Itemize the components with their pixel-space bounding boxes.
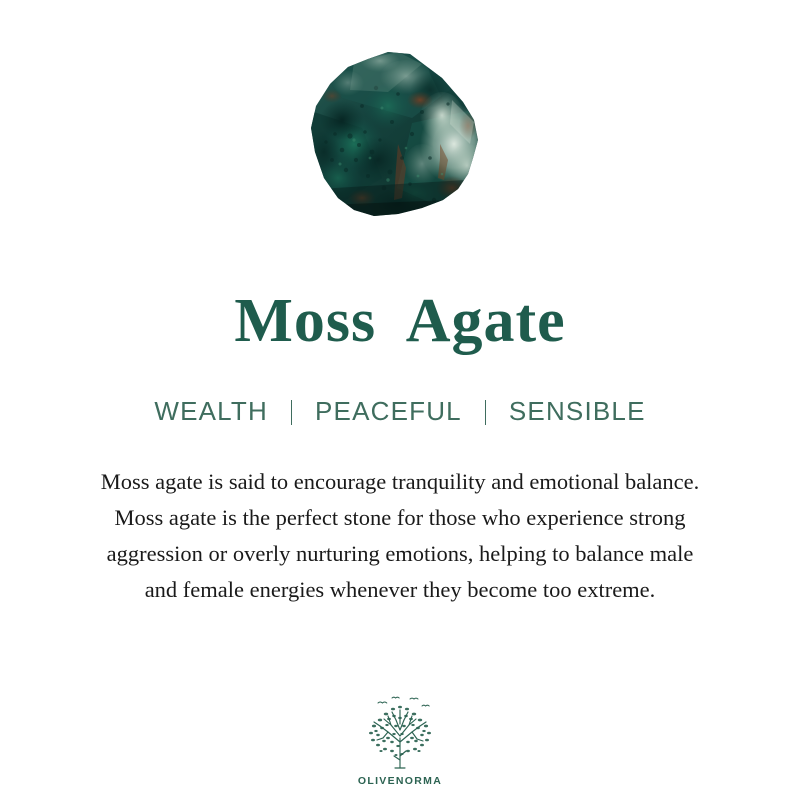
page-title: Moss Agate	[234, 290, 565, 352]
description-line: Moss agate is the perfect stone for thos…	[30, 500, 770, 536]
moss-agate-stone	[302, 48, 498, 228]
keyword-wealth: WEALTH	[154, 398, 268, 424]
keyword-peaceful: PEACEFUL	[315, 398, 462, 424]
description-line: Moss agate is said to encourage tranquil…	[30, 464, 770, 500]
stone-info-card: Moss Agate WEALTH PEACEFUL SENSIBLE Moss…	[0, 0, 800, 800]
olive-tree-icon	[358, 694, 442, 774]
description-paragraph: Moss agate is said to encourage tranquil…	[30, 464, 770, 608]
description-line: aggression or overly nurturing emotions,…	[30, 536, 770, 572]
description-line: and female energies whenever they become…	[30, 572, 770, 608]
stone-image-container	[0, 0, 800, 290]
keyword-list: WEALTH PEACEFUL SENSIBLE	[154, 398, 645, 424]
brand-wordmark: OLIVENORMA	[358, 776, 442, 787]
keyword-separator	[291, 400, 292, 425]
keyword-sensible: SENSIBLE	[509, 398, 646, 424]
keyword-separator	[485, 400, 486, 425]
brand-logo: OLIVENORMA	[0, 694, 800, 787]
